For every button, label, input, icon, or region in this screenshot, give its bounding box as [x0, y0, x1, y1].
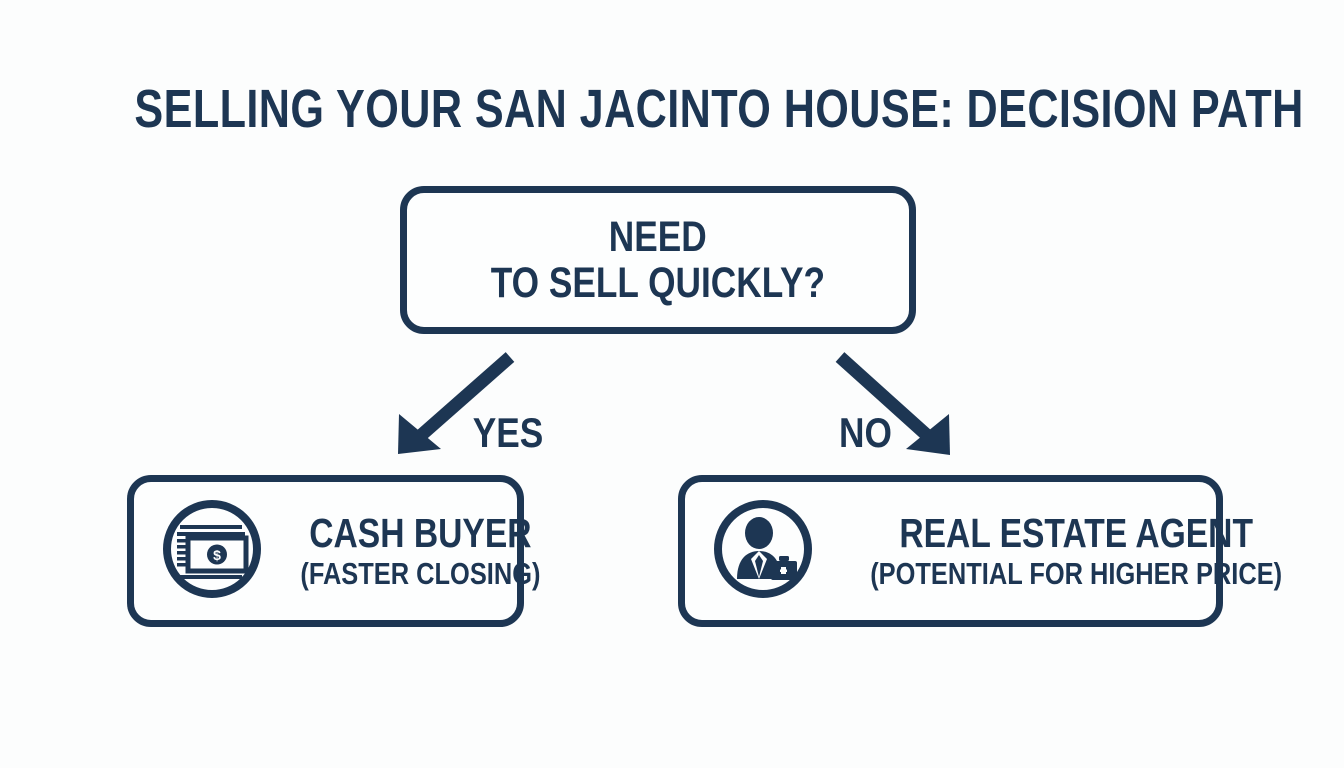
outcome-agent-title: REAL ESTATE AGENT [870, 511, 1282, 555]
outcome-cash-buyer-title: CASH BUYER [300, 511, 540, 555]
outcome-node-real-estate-agent[interactable]: REAL ESTATE AGENT (POTENTIAL FOR HIGHER … [678, 475, 1223, 627]
outcome-cash-buyer-subtitle: (FASTER CLOSING) [300, 557, 540, 590]
decision-line-1: NEED [609, 214, 707, 260]
outcome-agent-labels: REAL ESTATE AGENT (POTENTIAL FOR HIGHER … [817, 511, 1335, 591]
outcome-cash-buyer-labels: CASH BUYER (FASTER CLOSING) [266, 511, 575, 591]
outcome-node-cash-buyer[interactable]: $ CASH BUYER (FASTER CLOSING) [127, 475, 524, 627]
agent-briefcase-icon [709, 495, 817, 608]
page-title: SELLING YOUR SAN JACINTO HOUSE: DECISION… [134, 82, 1209, 136]
svg-text:$: $ [213, 547, 221, 563]
branch-label-yes: YES [473, 412, 544, 454]
outcome-agent-subtitle: (POTENTIAL FOR HIGHER PRICE) [870, 557, 1282, 590]
decision-node-text: NEED TO SELL QUICKLY? [407, 193, 909, 327]
branch-label-no: NO [839, 412, 892, 454]
cash-banknote-icon: $ [158, 495, 266, 608]
decision-line-2: TO SELL QUICKLY? [491, 260, 825, 306]
diagram-canvas: SELLING YOUR SAN JACINTO HOUSE: DECISION… [0, 0, 1344, 768]
decision-node[interactable]: NEED TO SELL QUICKLY? [400, 186, 916, 334]
